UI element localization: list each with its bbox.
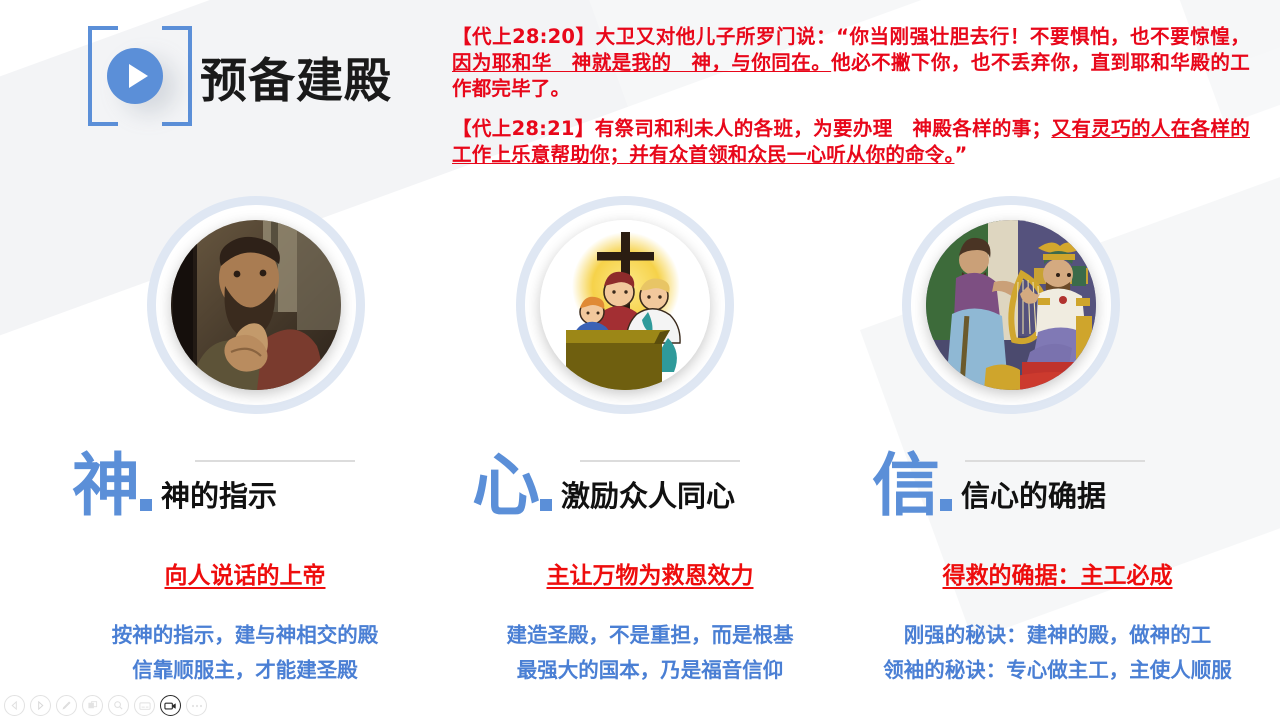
column-3-image [926,220,1096,390]
column-1-body: 向人说话的上帝 按神的指示，建与神相交的殿 信靠顺服主，才能建圣殿 [30,556,460,689]
column-2-heading: 心 激励众人同心 [472,455,735,520]
verse-1: 【代上28:20】大卫又对他儿子所罗门说：“你当刚强壮胆去行！不要惧怕，也不要惊… [452,24,1250,102]
column-3-blue-line-2: 领袖的秘诀：专心做主工，主使人顺服 [835,653,1280,688]
column-3-blue-line-1: 刚强的秘诀：建神的殿，做神的工 [835,618,1280,653]
more-options-icon[interactable] [186,695,207,716]
pen-annotate-icon[interactable] [56,695,77,716]
subtitles-icon[interactable] [134,695,155,716]
column-1-blue-line-2: 信靠顺服主，才能建圣殿 [30,653,460,688]
column-2-dot-icon [540,499,552,511]
column-1-dot-icon [140,499,152,511]
scripture-block: 【代上28:20】大卫又对他儿子所罗门说：“你当刚强壮胆去行！不要惧怕，也不要惊… [452,24,1250,182]
column-2-image [540,220,710,390]
column-1-red-line: 向人说话的上帝 [30,556,460,590]
column-2-body: 主让万物为救恩效力 建造圣殿，不是重担，而是根基 最强大的国本，乃是福音信仰 [435,556,865,689]
column-3-body: 得救的确据：主工必成 刚强的秘诀：建神的殿，做神的工 领袖的秘诀：专心做主工，主… [835,556,1280,689]
column-2-blue-line-1: 建造圣殿，不是重担，而是根基 [435,618,865,653]
column-3-red-line: 得救的确据：主工必成 [835,556,1280,590]
column-2-blue-line-2: 最强大的国本，乃是福音信仰 [435,653,865,688]
column-1-blue-line-1: 按神的指示，建与神相交的殿 [30,618,460,653]
verse-2-after: ” [954,143,967,166]
verse-2-reference: 【代上28:21】 [452,117,595,140]
play-icon [107,48,163,104]
column-3-big-char: 信 [872,455,938,520]
column-2-subhead: 激励众人同心 [561,473,735,520]
column-1-heading: 神 神的指示 [72,455,277,520]
column-3-heading: 信 信心的确据 [872,455,1106,520]
presentation-toolbar[interactable] [4,695,207,716]
zoom-magnifier-icon[interactable] [108,695,129,716]
column-2-red-line: 主让万物为救恩效力 [435,556,865,590]
verse-1-underlined: 因为耶和华 神就是我的 神，与你同在。 [452,51,831,74]
presentation-slide: 预备建殿 【代上28:20】大卫又对他儿子所罗门说：“你当刚强壮胆去行！不要惧怕… [0,0,1280,720]
slide-gallery-icon[interactable] [82,695,103,716]
column-1-image [171,220,341,390]
play-button-in-frame-logo [88,26,192,126]
column-1-subhead: 神的指示 [161,473,277,520]
column-3-dot-icon [940,499,952,511]
king-david-with-harp-painting [902,196,1120,414]
video-camera-icon[interactable] [160,695,181,716]
next-slide-icon[interactable] [30,695,51,716]
verse-2: 【代上28:21】有祭司和利未人的各班，为要办理 神殿各样的事；又有灵巧的人在各… [452,116,1250,168]
column-2-big-char: 心 [472,455,538,520]
verse-1-before: 大卫又对他儿子所罗门说：“你当刚强壮胆去行！不要惧怕，也不要惊惶， [596,25,1250,48]
column-1-big-char: 神 [72,455,138,520]
previous-slide-icon[interactable] [4,695,25,716]
verse-2-before: 有祭司和利未人的各班，为要办理 神殿各样的事； [595,117,1052,140]
page-title: 预备建殿 [200,42,392,111]
column-3-subhead: 信心的确据 [961,473,1106,520]
verse-1-reference: 【代上28:20】 [452,25,596,48]
family-praying-at-cross-illustration [516,196,734,414]
praying-bearded-man-photo [147,196,365,414]
